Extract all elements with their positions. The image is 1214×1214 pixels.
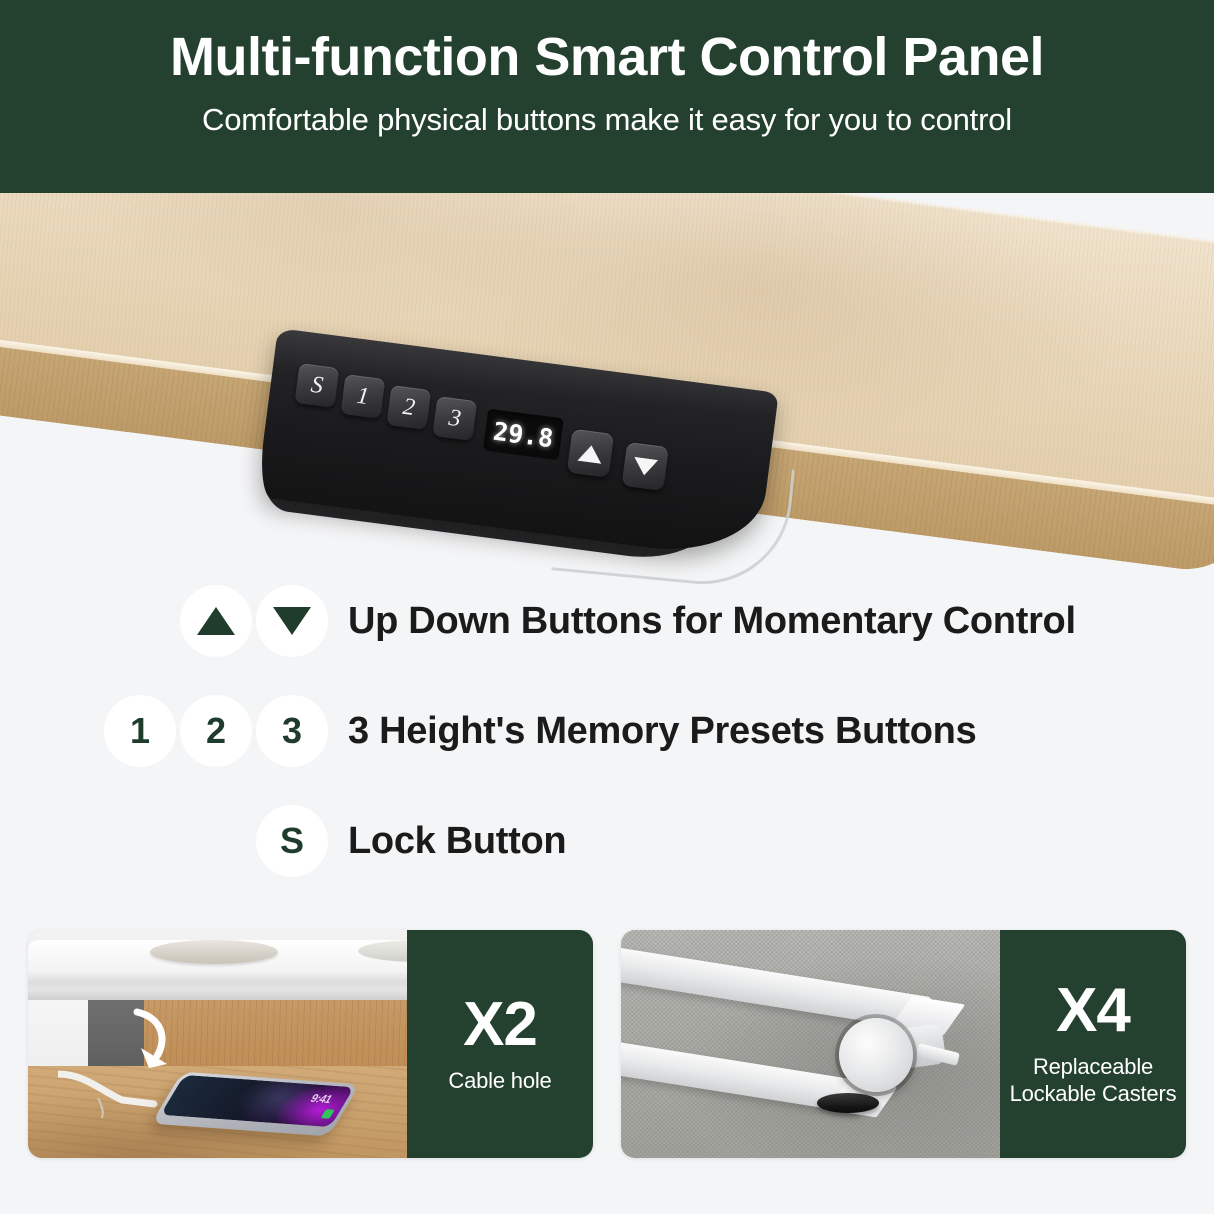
caster-wheel — [839, 1018, 913, 1092]
cable-hole-panel: 9:41 X2 Cable hole — [28, 930, 593, 1158]
feature-row-lock: S Lock Button — [250, 805, 566, 877]
triangle-up-icon — [197, 607, 235, 635]
caster-photo — [621, 930, 1000, 1158]
badge-up-button — [180, 585, 252, 657]
feature-label: Up Down Buttons for Momentary Control — [348, 600, 1076, 643]
badge-preset-2: 2 — [180, 695, 252, 767]
cable-hole-caption: Cable hole — [448, 1068, 551, 1095]
feature-badges: 1 2 3 — [65, 695, 330, 767]
cable-hole-label: X2 Cable hole — [407, 930, 593, 1158]
curved-arrow-icon — [123, 1008, 183, 1070]
triangle-up-icon — [577, 443, 603, 463]
casters-caption-line-1: Replaceable — [1010, 1054, 1177, 1081]
hero-photo: S 1 2 3 29.8 — [0, 193, 1214, 585]
phone-clock: 9:41 — [308, 1093, 334, 1106]
page-subtitle: Comfortable physical buttons make it eas… — [202, 102, 1012, 138]
panel-up-button[interactable] — [567, 429, 614, 478]
triangle-down-icon — [632, 456, 658, 476]
cable-hole-photo: 9:41 — [28, 930, 407, 1158]
feature-label: Lock Button — [348, 820, 566, 863]
cable-hole-count: X2 — [463, 994, 537, 1056]
panel-preset-3-key[interactable]: 3 — [432, 396, 477, 441]
header-banner: Multi-function Smart Control Panel Comfo… — [0, 0, 1214, 193]
panel-preset-1-key[interactable]: 1 — [340, 374, 385, 419]
badge-preset-1: 1 — [104, 695, 176, 767]
feature-row-up-down: Up Down Buttons for Momentary Control — [160, 585, 1076, 657]
casters-caption: Replaceable Lockable Casters — [1010, 1054, 1177, 1108]
panel-lock-key[interactable]: S — [295, 363, 340, 408]
white-desktop — [28, 940, 407, 1000]
casters-panel: X4 Replaceable Lockable Casters — [621, 930, 1186, 1158]
cable-hole-opening — [150, 940, 278, 964]
badge-lock: S — [256, 805, 328, 877]
feature-badges: S — [250, 805, 330, 877]
panel-down-button[interactable] — [622, 442, 669, 491]
feature-badges — [160, 585, 330, 657]
badge-preset-3: 3 — [256, 695, 328, 767]
cable-hole-opening-secondary — [358, 940, 407, 962]
page-title: Multi-function Smart Control Panel — [170, 28, 1044, 86]
panel-preset-2-key[interactable]: 2 — [386, 385, 431, 430]
casters-caption-line-2: Lockable Casters — [1010, 1081, 1177, 1108]
feature-list: Up Down Buttons for Momentary Control 1 … — [0, 585, 1214, 915]
height-display: 29.8 — [483, 409, 564, 460]
floor-glide — [817, 1093, 879, 1113]
triangle-down-icon — [273, 607, 311, 635]
casters-count: X4 — [1056, 980, 1130, 1042]
phone-status-dot — [321, 1109, 335, 1119]
casters-label: X4 Replaceable Lockable Casters — [1000, 930, 1186, 1158]
height-display-value: 29.8 — [492, 416, 555, 453]
bottom-panel-row: 9:41 X2 Cable hole X4 — [0, 930, 1214, 1185]
feature-label: 3 Height's Memory Presets Buttons — [348, 710, 976, 753]
feature-row-presets: 1 2 3 3 Height's Memory Presets Buttons — [65, 695, 976, 767]
badge-down-button — [256, 585, 328, 657]
phone-screen: 9:41 — [160, 1075, 354, 1127]
